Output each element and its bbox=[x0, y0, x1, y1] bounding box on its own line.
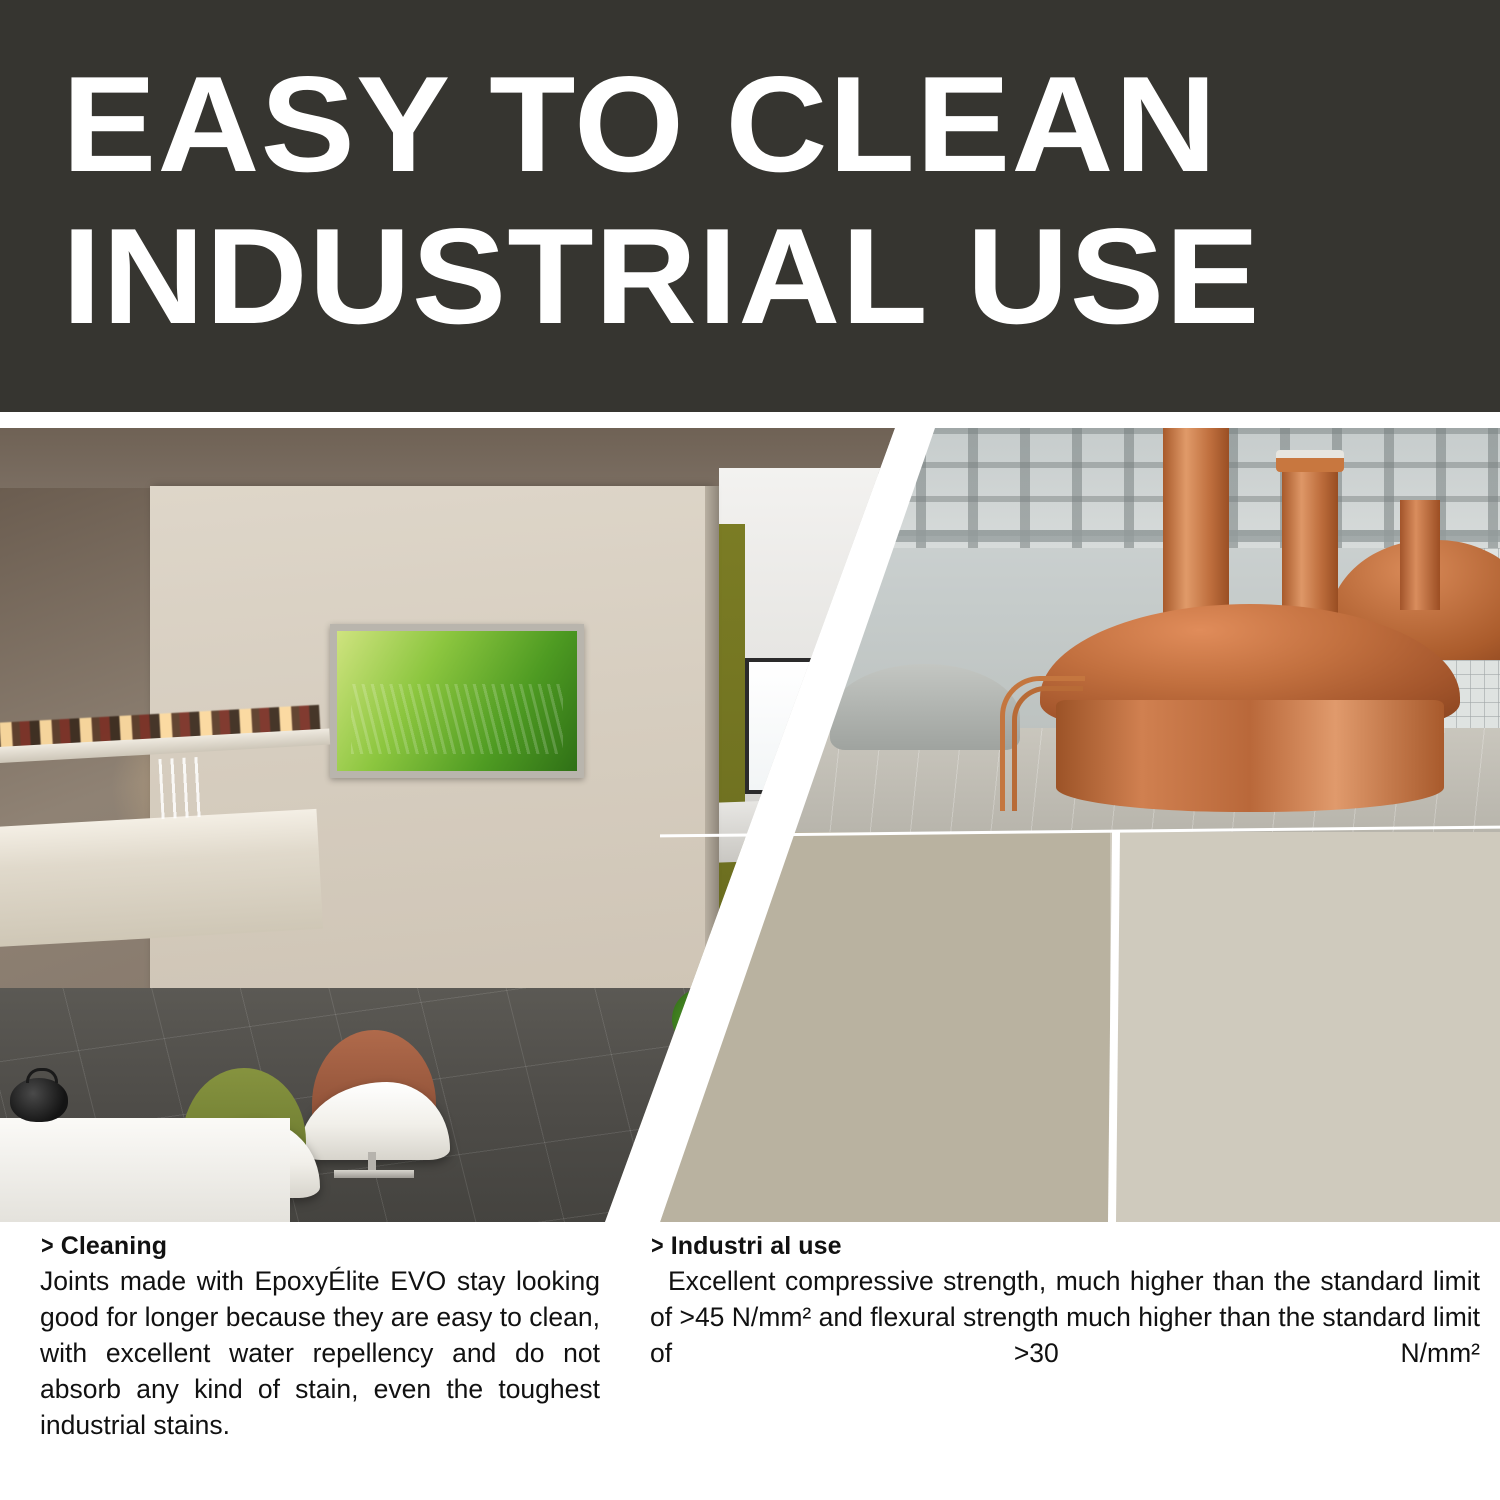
poster-root: EASY TO CLEAN INDUSTRIAL USE bbox=[0, 0, 1500, 1500]
wall-picture-green-leaf bbox=[330, 624, 584, 778]
chevron-right-icon: > bbox=[651, 1232, 663, 1262]
designer-chair-rust bbox=[300, 1028, 450, 1178]
page-title: EASY TO CLEAN INDUSTRIAL USE bbox=[62, 48, 1500, 352]
chevron-right-icon: > bbox=[41, 1232, 53, 1262]
caption-heading-industrial: >Industri al use bbox=[650, 1232, 1480, 1261]
copper-tube-inner bbox=[1012, 686, 1083, 811]
caption-area: >Cleaning Joints made with EpoxyÉlite EV… bbox=[0, 1232, 1500, 1500]
wall-shelf-lower bbox=[0, 809, 323, 947]
copper-stack-background bbox=[1400, 500, 1440, 610]
kettle-drum bbox=[1056, 700, 1444, 812]
caption-heading-cleaning: >Cleaning bbox=[40, 1232, 600, 1261]
caption-body-industrial: Excellent compressive strength, much hig… bbox=[650, 1263, 1480, 1407]
teapot bbox=[10, 1078, 68, 1122]
chair-base bbox=[334, 1170, 414, 1178]
header-banner: EASY TO CLEAN INDUSTRIAL USE bbox=[0, 0, 1500, 412]
caption-heading-label: Cleaning bbox=[61, 1232, 167, 1260]
caption-heading-label: Industri al use bbox=[671, 1232, 842, 1260]
copper-brewing-kettle bbox=[1040, 604, 1460, 814]
caption-column-cleaning: >Cleaning Joints made with EpoxyÉlite EV… bbox=[40, 1232, 600, 1443]
caption-column-industrial: >Industri al use Excellent compressive s… bbox=[650, 1232, 1480, 1407]
white-counter bbox=[0, 1118, 290, 1222]
image-collage bbox=[0, 428, 1500, 1222]
caption-body-cleaning: Joints made with EpoxyÉlite EVO stay loo… bbox=[40, 1263, 600, 1443]
glassware bbox=[158, 757, 201, 819]
